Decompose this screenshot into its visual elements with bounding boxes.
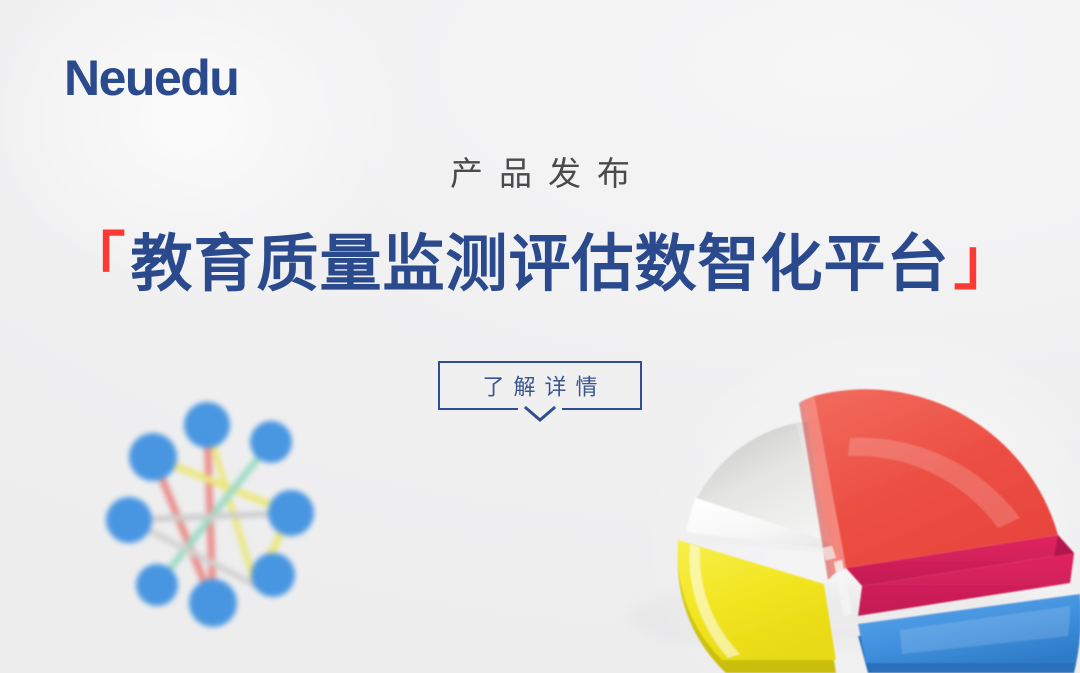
- hero-banner: Neuedu 产品发布 「教育质量监测评估数智化平台」 了解详情: [0, 0, 1080, 673]
- quote-bracket-left-icon: 「: [63, 227, 126, 298]
- network-graph-illustration: [95, 385, 365, 660]
- learn-more-button-label: 了解详情: [440, 369, 640, 401]
- cta-border-notch: [518, 406, 562, 410]
- page-title: 「教育质量监测评估数智化平台」: [0, 229, 1080, 300]
- pie-chart-3d-illustration: [600, 368, 1080, 673]
- learn-more-button[interactable]: 了解详情: [438, 361, 642, 410]
- page-title-text: 教育质量监测评估数智化平台: [130, 229, 949, 300]
- quote-bracket-right-icon: 」: [954, 227, 1017, 298]
- brand-logo[interactable]: Neuedu: [64, 53, 238, 103]
- kicker-text: 产品发布: [0, 156, 1080, 192]
